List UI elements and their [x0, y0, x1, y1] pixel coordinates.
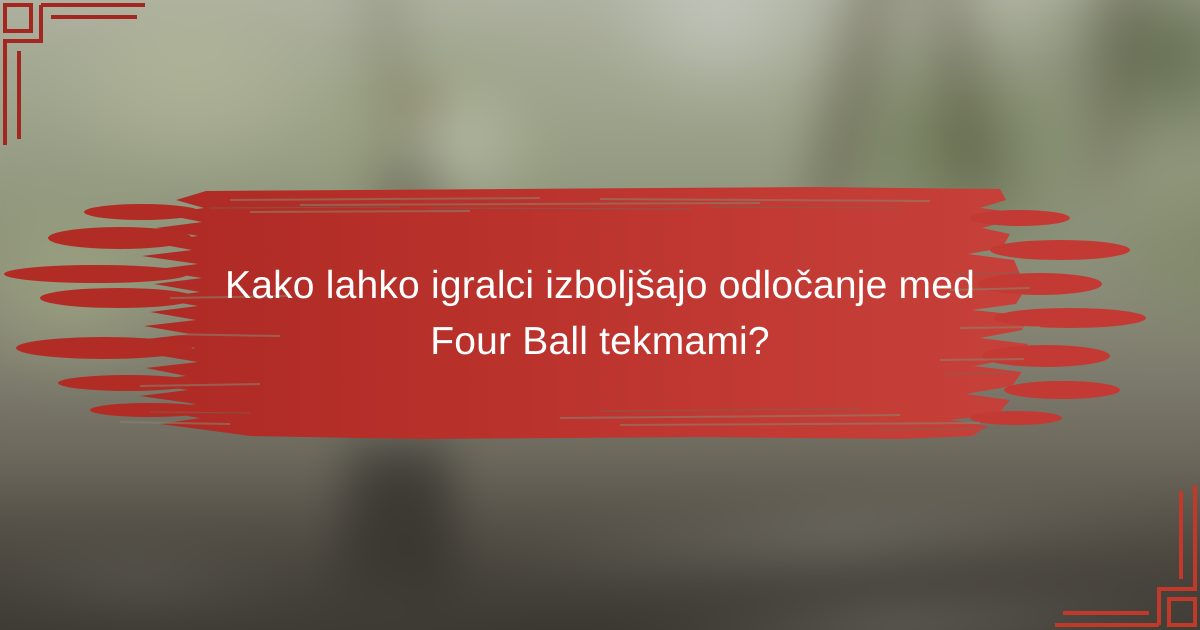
title-line-1: Kako lahko igralci izboljšajo odločanje … — [140, 258, 1060, 314]
social-card: Kako lahko igralci izboljšajo odločanje … — [0, 0, 1200, 630]
title-line-2: Four Ball tekmami? — [140, 314, 1060, 370]
page-title: Kako lahko igralci izboljšajo odločanje … — [140, 258, 1060, 370]
